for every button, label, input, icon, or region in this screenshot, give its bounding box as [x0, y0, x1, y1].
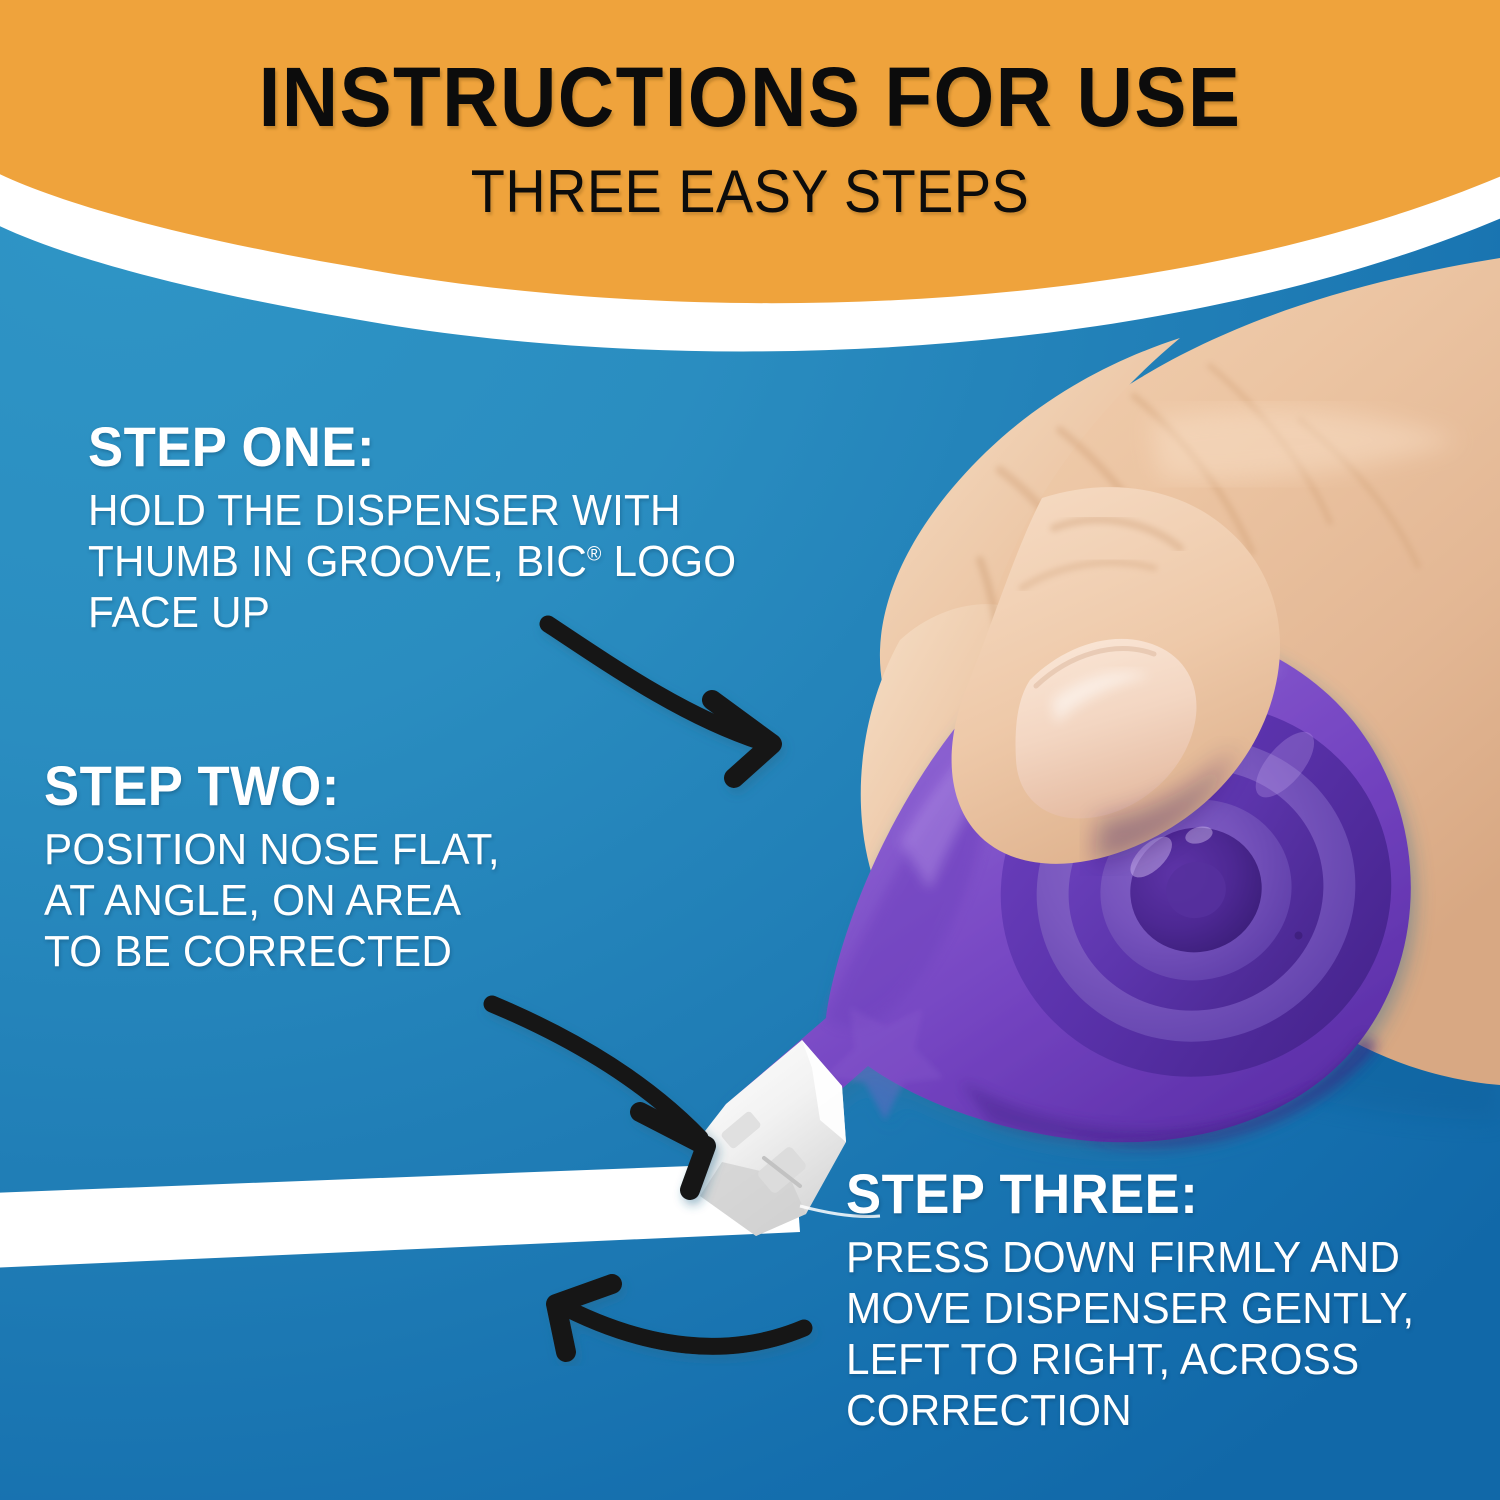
step-three-line-4: CORRECTION — [846, 1385, 1414, 1436]
step-three-line-2: MOVE DISPENSER GENTLY, — [846, 1283, 1414, 1334]
step-one-block: STEP ONE: HOLD THE DISPENSER WITH THUMB … — [88, 418, 763, 638]
arrow-step-one — [548, 624, 772, 778]
instructions-graphic: INSTRUCTIONS FOR USE THREE EASY STEPS — [0, 0, 1500, 1500]
arrow-step-two — [492, 1004, 706, 1190]
step-two-line-1: POSITION NOSE FLAT, — [44, 824, 500, 875]
step-one-line-1: HOLD THE DISPENSER WITH — [88, 485, 736, 536]
registered-trademark-symbol: ® — [587, 543, 602, 565]
step-two-body: POSITION NOSE FLAT, AT ANGLE, ON AREA TO… — [44, 824, 500, 977]
step-three-title: STEP THREE: — [846, 1165, 1403, 1222]
step-two-line-3: TO BE CORRECTED — [44, 926, 500, 977]
step-two-title: STEP TWO: — [44, 757, 490, 814]
step-three-body: PRESS DOWN FIRMLY AND MOVE DISPENSER GEN… — [846, 1232, 1414, 1436]
step-three-block: STEP THREE: PRESS DOWN FIRMLY AND MOVE D… — [846, 1165, 1438, 1436]
step-one-body: HOLD THE DISPENSER WITH THUMB IN GROOVE,… — [88, 485, 736, 638]
arrow-step-three — [556, 1284, 804, 1352]
step-two-line-2: AT ANGLE, ON AREA — [44, 875, 500, 926]
step-three-line-3: LEFT TO RIGHT, ACROSS — [846, 1334, 1414, 1385]
step-one-title: STEP ONE: — [88, 418, 723, 475]
step-one-line-2: THUMB IN GROOVE, BIC® LOGO — [88, 536, 736, 587]
step-two-block: STEP TWO: POSITION NOSE FLAT, AT ANGLE, … — [44, 757, 519, 977]
step-three-line-1: PRESS DOWN FIRMLY AND — [846, 1232, 1414, 1283]
step-one-line-3: FACE UP — [88, 587, 736, 638]
